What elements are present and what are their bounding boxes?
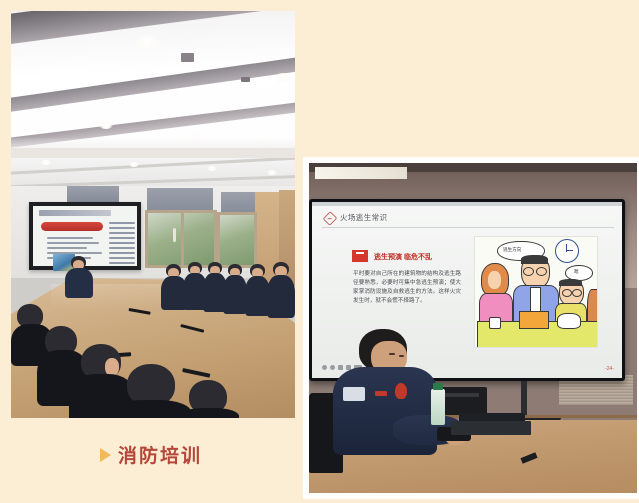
meeting-room-training-photo xyxy=(11,158,295,418)
bottle-cap xyxy=(433,383,443,390)
cartoon-teapot xyxy=(557,313,581,329)
section-number-glyph xyxy=(356,252,364,254)
ceiling-spotlight xyxy=(275,73,291,83)
lecture-photo-inner: 火场逃生常识 逃生预演 临危不乱 平时要对自己所在的建筑物的结构及逃生路径要熟悉… xyxy=(309,163,637,493)
shoulder-patch xyxy=(343,387,365,401)
gear-icon[interactable] xyxy=(322,365,327,370)
meeting-photo-inner xyxy=(11,158,295,418)
slide-bullet xyxy=(47,237,93,239)
chest-emblem xyxy=(395,383,407,399)
slide-column-line xyxy=(109,247,135,249)
window-shade-right xyxy=(221,192,255,214)
slide-body-text: 平时要对自己所在的建筑物的结构及逃生路径要熟悉，必要时可集中急逃生预演；使大家掌… xyxy=(353,270,461,306)
ceiling-photo-inner xyxy=(11,11,295,158)
slide-column-line xyxy=(109,262,135,264)
firefighter-lecture-photo: 火场逃生常识 逃生预演 临危不乱 平时要对自己所在的建筑物的结构及逃生路径要熟悉… xyxy=(303,157,639,499)
section-heading: 逃生预演 临危不乱 xyxy=(374,252,432,262)
seated-person xyxy=(223,264,247,314)
caption-text: 消防培训 xyxy=(118,441,202,468)
speech-bubble-text: 逃生方向 xyxy=(503,247,521,253)
ceiling-sensor xyxy=(241,77,250,82)
cartoon-food xyxy=(519,311,549,329)
water-bottle xyxy=(431,389,445,425)
speech-bubble-small-text: 嗯 xyxy=(574,269,579,275)
slide-column-line xyxy=(109,252,135,254)
wall-clock-icon xyxy=(555,239,579,263)
firefighter-eye xyxy=(389,353,395,355)
shield-badge-icon xyxy=(323,211,337,225)
tv-stand-pole xyxy=(521,381,527,417)
firefighter-eye xyxy=(399,355,404,357)
chest-badge xyxy=(375,391,387,396)
foreground-person xyxy=(179,380,239,418)
slide-cartoon-illustration: 逃生方向 嗯 xyxy=(474,236,598,348)
caption: 消防培训 xyxy=(100,441,202,468)
window-shade-center xyxy=(147,188,213,212)
slide-column-line xyxy=(109,222,135,224)
poster-root: 火场逃生常识 逃生预演 临危不乱 平时要对自己所在的建筑物的结构及逃生路径要熟悉… xyxy=(0,0,639,503)
ceiling-spotlight xyxy=(137,36,157,49)
laptop-keyboard xyxy=(451,421,531,435)
slide-title-bar xyxy=(39,210,111,216)
slide-title-rule xyxy=(322,227,614,228)
slide-bullet xyxy=(47,247,87,249)
ceiling-vent xyxy=(181,53,194,62)
person-body xyxy=(65,268,93,298)
slide-column-line xyxy=(109,257,135,259)
slide-page-number: -24- xyxy=(605,366,614,372)
person-body xyxy=(179,408,239,418)
window-shade-left xyxy=(67,186,119,202)
meeting-window xyxy=(217,212,257,268)
conference-room-ceiling-photo xyxy=(11,11,295,158)
slide-bullet xyxy=(47,242,99,244)
cartoon-cup xyxy=(489,317,501,329)
slide-column-line xyxy=(109,232,135,234)
slide-red-banner xyxy=(41,222,103,231)
ceiling-band-2 xyxy=(11,52,295,113)
presenter-person xyxy=(65,256,93,298)
seated-person xyxy=(267,262,295,318)
meeting-ceiling-light xyxy=(41,160,51,165)
triangle-right-icon xyxy=(100,448,111,462)
slide-column-line xyxy=(109,227,135,229)
tv-top-bar xyxy=(312,202,622,206)
meeting-ceiling-light xyxy=(207,166,217,171)
ceiling-light-panel xyxy=(315,167,407,179)
person-body xyxy=(223,275,247,314)
slide-title: 火场逃生常识 xyxy=(340,212,387,223)
slide-column-line xyxy=(109,242,135,244)
meeting-ceiling-light xyxy=(129,162,139,167)
window-mullion xyxy=(181,210,184,268)
window-handle xyxy=(173,228,176,242)
person-body xyxy=(267,275,295,318)
slide-column-line xyxy=(109,237,135,239)
meeting-ceiling-light xyxy=(267,170,277,175)
ceiling-lower-wall xyxy=(11,148,295,158)
ceiling-spotlight xyxy=(99,121,113,129)
